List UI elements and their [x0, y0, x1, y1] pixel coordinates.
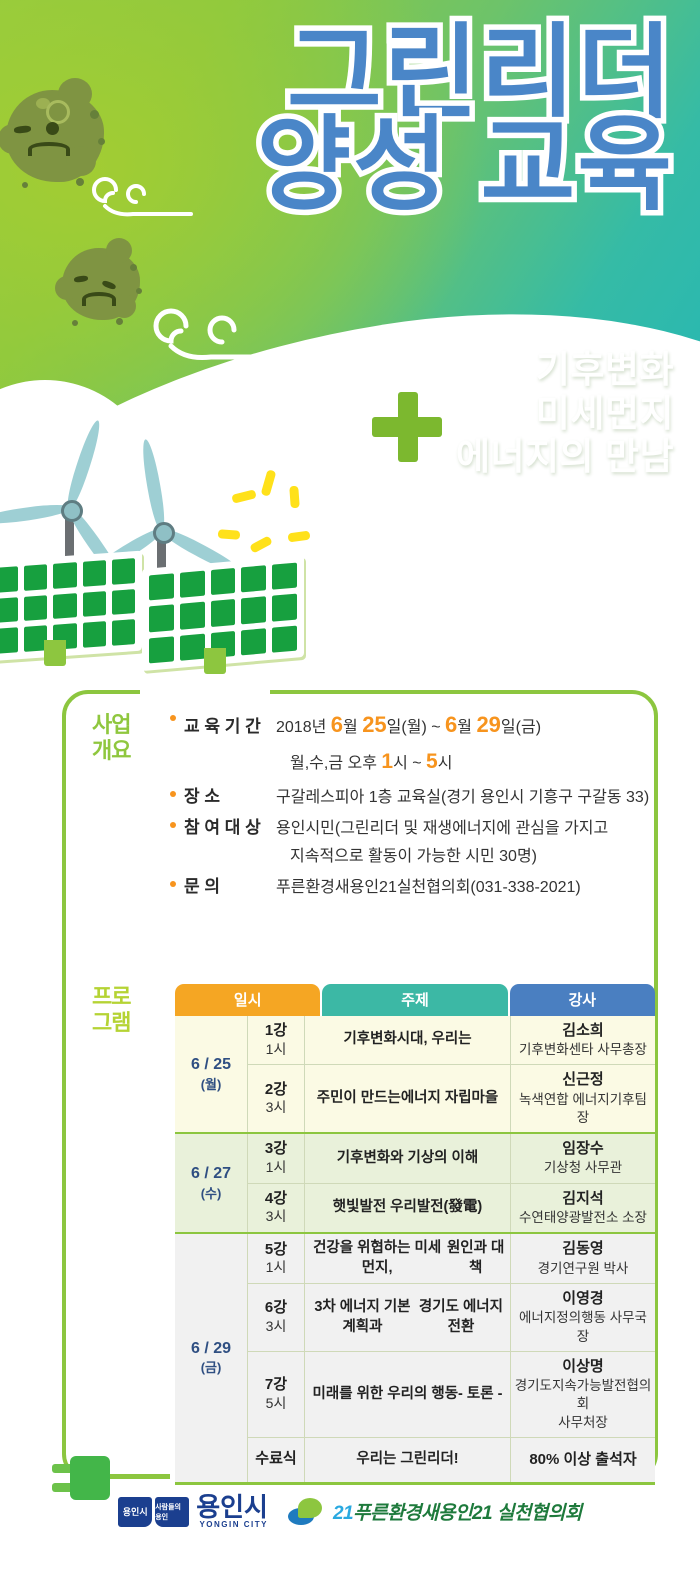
period-day-2: 29: [476, 712, 500, 737]
poster-root: 그린리더 양성 교육 기후변화 미세먼지 에너지의 만남 사업 개요 교 육 기…: [0, 0, 700, 1571]
session-lecturer-cell: 신근정녹색연합 에너지기후팀장: [511, 1065, 655, 1132]
table-row: 7강5시미래를 위한 우리의 행동- 토론 -이상명경기도지속가능발전협의회사무…: [248, 1351, 655, 1437]
session-number-cell: 6강3시: [248, 1284, 305, 1351]
lecturer-title: 사무처장: [558, 1414, 608, 1432]
session-hour: 1시: [266, 1259, 287, 1277]
solar-panel-icon: [142, 562, 302, 680]
session-number-cell: 2강3시: [248, 1065, 305, 1132]
overview-label-line2: 개요: [92, 738, 162, 764]
period-year: 2018년: [276, 719, 331, 736]
plug-cord: [110, 1474, 170, 1479]
lecturer-title: 기후변화센타 사무총장: [519, 1041, 647, 1059]
session-topic: 미래를 위한 우리의 행동- 토론 -: [305, 1352, 511, 1437]
program-date-cell: 6 / 29(금): [175, 1234, 248, 1482]
session-lecturer-cell: 이영경에너지정의행동 사무국장: [511, 1284, 655, 1351]
session-topic: 기후변화시대, 우리는: [305, 1016, 511, 1064]
topic-line: 햇빛발전 우리발전(發電): [333, 1198, 482, 1218]
program-label-line2: 그램: [92, 1010, 166, 1036]
overview-value-audience: 용인시민(그린리더 및 재생에너지에 관심을 가지고: [276, 815, 608, 843]
overview-key-audience: 참 여 대 상: [184, 813, 276, 838]
overview-rows: 교 육 기 간 2018년 6월 25일(월) ~ 6월 29일(금) 월,수,…: [170, 706, 680, 904]
topic-line: 건강을 위협하는 미세먼지,: [309, 1239, 445, 1278]
table-row: 3강1시기후변화와 기상의 이해임장수기상청 사무관: [248, 1134, 655, 1182]
program-date-cell: 6 / 25(월): [175, 1016, 248, 1132]
overview-value-place: 구갈레스피아 1층 교육실(경기 용인시 기흥구 구갈동 33): [276, 784, 649, 812]
footer-logos: 용인시 사람들의 용인 용인시 YONGIN CITY 21푸른환경새용인21 …: [0, 1494, 700, 1529]
overview-label-line1: 사업: [92, 712, 162, 738]
overview-value-contact: 푸른환경새용인21실천협의회(031-338-2021): [276, 874, 581, 902]
overview-value-audience-line2: 지속적으로 활동이 가능한 시민 30명): [276, 843, 680, 871]
program-rows: 1강1시기후변화시대, 우리는김소희기후변화센타 사무총장2강3시주민이 만드는…: [248, 1016, 655, 1132]
lecturer-name: 80% 이상 출석자: [529, 1450, 636, 1470]
topic-line: 경기도 에너지 전환: [416, 1298, 506, 1337]
poster-title: 그린리더 양성 교육: [0, 24, 700, 214]
session-hour: 3시: [266, 1099, 287, 1117]
overview-label: 사업 개요: [92, 712, 162, 765]
topic-line: 우리는 그린리더!: [356, 1450, 458, 1470]
session-topic: 건강을 위협하는 미세먼지,원인과 대책: [305, 1234, 511, 1283]
session-number-cell: 1강1시: [248, 1016, 305, 1064]
lecturer-title: 기상청 사무관: [544, 1159, 622, 1177]
poster-subtitle: 기후변화 미세먼지 에너지의 만남: [456, 348, 674, 479]
session-lecturer-cell: 임장수기상청 사무관: [511, 1134, 655, 1182]
period-month-1: 6: [331, 712, 343, 737]
session-number: 1강: [265, 1022, 287, 1041]
program-day-of-week: (금): [201, 1360, 222, 1377]
bullet-icon: [170, 715, 176, 721]
topic-line: 3차 에너지 기본계획과: [309, 1298, 416, 1337]
lecturer-title: 경기연구원 박사: [538, 1260, 629, 1278]
topic-line: 주민이 만드는: [317, 1089, 401, 1109]
overview-key-contact: 문 의: [184, 872, 276, 897]
session-topic: 기후변화와 기상의 이해: [305, 1134, 511, 1182]
table-row: 4강3시햇빛발전 우리발전(發電)김지석수연태양광발전소 소장: [248, 1183, 655, 1232]
plus-icon: [372, 392, 442, 462]
lecturer-title: 에너지정의행동 사무국장: [514, 1309, 652, 1345]
session-number-cell: 3강1시: [248, 1134, 305, 1182]
session-number: 4강: [265, 1190, 287, 1209]
program-label: 프로 그램: [92, 984, 166, 1037]
program-label-line1: 프로: [92, 984, 166, 1010]
bullet-icon: [170, 881, 176, 887]
book-icon: 용인시 사람들의 용인: [118, 1497, 189, 1527]
table-row: 6강3시3차 에너지 기본계획과경기도 에너지 전환이영경에너지정의행동 사무국…: [248, 1283, 655, 1351]
program-date: 6 / 27: [191, 1164, 231, 1185]
book-left: 용인시: [118, 1497, 152, 1527]
period-time-start-suffix: 시 ~: [393, 755, 426, 772]
program-date-group: 6 / 25(월)1강1시기후변화시대, 우리는김소희기후변화센타 사무총장2강…: [175, 1016, 655, 1132]
period-month-1-suffix: 월: [343, 719, 362, 736]
session-topic: 주민이 만드는에너지 자립마을: [305, 1065, 511, 1132]
period-time-start: 1: [381, 750, 393, 773]
yongin-name-en: YONGIN CITY: [196, 1521, 268, 1529]
frame-gap-top: [140, 676, 270, 706]
session-number-cell: 수료식: [248, 1438, 305, 1482]
program-date-group: 6 / 27(수)3강1시기후변화와 기상의 이해임장수기상청 사무관4강3시햇…: [175, 1132, 655, 1232]
subtitle-line-1: 기후변화: [456, 348, 674, 392]
overview-value-period-line2: 월,수,금 오후 1시 ~ 5시: [276, 744, 680, 780]
subtitle-line-2: 미세먼지: [456, 392, 674, 436]
green21-number: 21: [333, 1503, 353, 1524]
session-lecturer-cell: 김지석수연태양광발전소 소장: [511, 1184, 655, 1232]
column-header-topic: 주제: [322, 984, 507, 1016]
lecturer-title: 경기도지속가능발전협의회: [514, 1377, 652, 1413]
yongin-city-logo: 용인시 사람들의 용인 용인시 YONGIN CITY: [118, 1494, 268, 1529]
session-number-cell: 5강1시: [248, 1234, 305, 1283]
topic-line: 에너지 자립마을: [401, 1089, 498, 1109]
dust-character-icon: [62, 248, 140, 320]
period-day-2-suffix: 일(금): [501, 719, 541, 736]
bullet-icon: [170, 791, 176, 797]
period-day-1-suffix: 일(월) ~: [387, 719, 445, 736]
session-lecturer-cell: 80% 이상 출석자: [511, 1438, 655, 1482]
overview-key-place: 장 소: [184, 782, 276, 807]
lecturer-name: 임장수: [562, 1139, 603, 1159]
topic-line: - 토론 -: [458, 1385, 502, 1405]
book-right: 사람들의 용인: [155, 1497, 189, 1527]
lecturer-name: 김동영: [562, 1239, 603, 1259]
session-number-cell: 4강3시: [248, 1184, 305, 1232]
program-day-of-week: (월): [201, 1077, 222, 1094]
program-table-header: 일시 주제 강사: [175, 984, 655, 1016]
session-number: 7강: [265, 1376, 287, 1395]
title-line-2: 양성 교육: [0, 116, 674, 214]
session-number-cell: 7강5시: [248, 1352, 305, 1437]
session-topic: 우리는 그린리더!: [305, 1438, 511, 1482]
period-month-2: 6: [445, 712, 457, 737]
session-lecturer-cell: 김동영경기연구원 박사: [511, 1234, 655, 1283]
leaf-globe-icon: [286, 1498, 328, 1526]
session-number: 수료식: [255, 1450, 296, 1469]
table-row: 5강1시건강을 위협하는 미세먼지,원인과 대책김동영경기연구원 박사: [248, 1234, 655, 1283]
program-day-of-week: (수): [201, 1186, 222, 1203]
bullet-icon: [170, 822, 176, 828]
program-table-body: 6 / 25(월)1강1시기후변화시대, 우리는김소희기후변화센타 사무총장2강…: [175, 1016, 655, 1485]
session-hour: 5시: [266, 1395, 287, 1413]
period-days: 월,수,금 오후: [290, 755, 381, 772]
topic-line: 기후변화와 기상의 이해: [337, 1149, 478, 1169]
session-topic: 햇빛발전 우리발전(發電): [305, 1184, 511, 1232]
topic-line: 원인과 대책: [445, 1239, 506, 1278]
overview-row-audience: 참 여 대 상 용인시민(그린리더 및 재생에너지에 관심을 가지고 지속적으로…: [170, 813, 680, 870]
table-row: 수료식우리는 그린리더!80% 이상 출석자: [248, 1437, 655, 1482]
period-time-end: 5: [426, 750, 438, 773]
lecturer-name: 김소희: [562, 1021, 603, 1041]
program-date: 6 / 29: [191, 1339, 231, 1360]
solar-panel-icon: [0, 556, 138, 676]
program-date: 6 / 25: [191, 1055, 231, 1076]
topic-line: 기후변화시대, 우리는: [343, 1030, 471, 1050]
period-time-end-suffix: 시: [438, 755, 453, 772]
yongin-name-ko: 용인시: [196, 1492, 268, 1522]
wind-swirl-icon: [150, 300, 340, 380]
table-row: 2강3시주민이 만드는에너지 자립마을신근정녹색연합 에너지기후팀장: [248, 1064, 655, 1132]
program-date-group: 6 / 29(금)5강1시건강을 위협하는 미세먼지,원인과 대책김동영경기연구…: [175, 1232, 655, 1482]
green21-logo: 21푸른환경새용인21 실천협의회: [286, 1498, 582, 1526]
session-lecturer-cell: 김소희기후변화센타 사무총장: [511, 1016, 655, 1064]
program-table: 일시 주제 강사 6 / 25(월)1강1시기후변화시대, 우리는김소희기후변화…: [175, 984, 655, 1485]
session-number: 3강: [265, 1140, 287, 1159]
column-header-date: 일시: [175, 984, 320, 1016]
overview-row-contact: 문 의 푸른환경새용인21실천협의회(031-338-2021): [170, 872, 680, 902]
program-date-cell: 6 / 27(수): [175, 1134, 248, 1232]
lecturer-name: 이상명: [562, 1357, 603, 1377]
session-topic: 3차 에너지 기본계획과경기도 에너지 전환: [305, 1284, 511, 1351]
session-hour: 3시: [266, 1208, 287, 1226]
lecturer-title: 녹색연합 에너지기후팀장: [514, 1091, 652, 1127]
session-hour: 1시: [266, 1041, 287, 1059]
period-day-1: 25: [362, 712, 386, 737]
program-rows: 5강1시건강을 위협하는 미세먼지,원인과 대책김동영경기연구원 박사6강3시3…: [248, 1234, 655, 1482]
overview-row-place: 장 소 구갈레스피아 1층 교육실(경기 용인시 기흥구 구갈동 33): [170, 782, 680, 812]
yongin-name: 용인시 YONGIN CITY: [196, 1494, 268, 1529]
lecturer-name: 신근정: [562, 1070, 603, 1090]
topic-line: 미래를 위한 우리의 행동: [313, 1385, 459, 1405]
session-hour: 1시: [266, 1159, 287, 1177]
sparkle-icon: [218, 529, 241, 540]
session-hour: 3시: [266, 1318, 287, 1336]
overview-value-period: 2018년 6월 25일(월) ~ 6월 29일(금): [276, 706, 541, 744]
table-row: 1강1시기후변화시대, 우리는김소희기후변화센타 사무총장: [248, 1016, 655, 1064]
period-month-2-suffix: 월: [457, 719, 476, 736]
lecturer-title: 수연태양광발전소 소장: [519, 1209, 647, 1227]
column-header-lecturer: 강사: [510, 984, 655, 1016]
program-rows: 3강1시기후변화와 기상의 이해임장수기상청 사무관4강3시햇빛발전 우리발전(…: [248, 1134, 655, 1232]
overview-row-period: 교 육 기 간 2018년 6월 25일(월) ~ 6월 29일(금) 월,수,…: [170, 706, 680, 780]
green21-text: 21푸른환경새용인21 실천협의회: [333, 1498, 582, 1525]
green21-name: 푸른환경새용인21 실천협의회: [353, 1503, 582, 1524]
lecturer-name: 이영경: [562, 1289, 603, 1309]
lecturer-name: 김지석: [562, 1189, 603, 1209]
session-number: 6강: [265, 1299, 287, 1318]
sparkle-icon: [289, 486, 300, 509]
subtitle-line-3: 에너지의 만남: [456, 435, 674, 479]
session-lecturer-cell: 이상명경기도지속가능발전협의회사무처장: [511, 1352, 655, 1437]
overview-key-period: 교 육 기 간: [184, 712, 276, 737]
session-number: 5강: [265, 1241, 287, 1260]
session-number: 2강: [265, 1081, 287, 1100]
